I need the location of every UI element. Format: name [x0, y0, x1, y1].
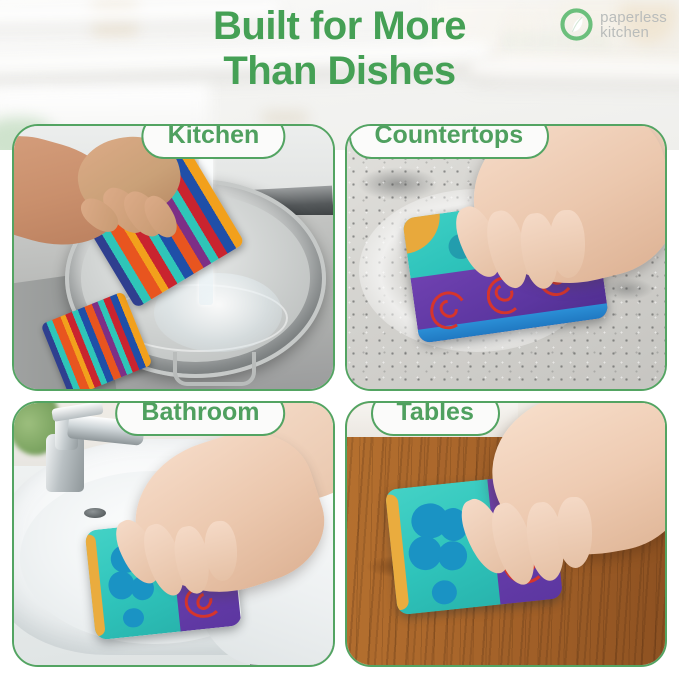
- product-infographic: Built for More Than Dishes paperless kit…: [0, 0, 679, 679]
- leaf-circle-icon: [560, 8, 593, 41]
- tables-photo: [347, 403, 666, 666]
- brand-name-line-1: paperless: [600, 10, 667, 25]
- label-tables: Tables: [371, 401, 500, 436]
- kitchen-photo: [14, 126, 333, 389]
- countertops-photo: [347, 126, 666, 389]
- label-countertops: Countertops: [349, 124, 550, 159]
- brand-name: paperless kitchen: [600, 10, 667, 40]
- drain: [84, 508, 106, 519]
- panel-countertops: Countertops: [345, 124, 668, 391]
- bathroom-photo: [14, 403, 333, 666]
- panel-kitchen: Kitchen: [12, 124, 335, 391]
- headline-line-2: Than Dishes: [0, 49, 679, 94]
- label-kitchen: Kitchen: [142, 124, 286, 159]
- panel-tables: Tables: [345, 401, 668, 668]
- headline-line-1: Built for More: [213, 4, 466, 48]
- label-bathroom: Bathroom: [115, 401, 285, 436]
- brand-logo: paperless kitchen: [560, 8, 667, 41]
- brand-name-line-2: kitchen: [600, 25, 667, 40]
- use-case-grid: Kitchen: [12, 124, 667, 667]
- panel-bathroom: Bathroom: [12, 401, 335, 668]
